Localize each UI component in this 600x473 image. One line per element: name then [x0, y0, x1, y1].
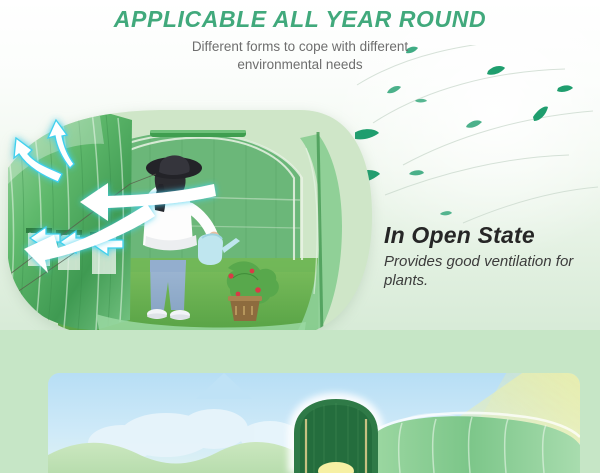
top-panel: APPLICABLE ALL YEAR ROUND Different form…: [0, 0, 600, 340]
card-notch: [196, 373, 252, 399]
page-subtitle: Different forms to cope with different e…: [150, 38, 450, 74]
greenhouse-open-photo: [0, 108, 378, 340]
greenhouse-closed-illustration: [48, 373, 580, 473]
product-infographic: APPLICABLE ALL YEAR ROUND Different form…: [0, 0, 600, 473]
open-state-title: In Open State: [384, 222, 535, 249]
page-title: APPLICABLE ALL YEAR ROUND: [0, 6, 600, 33]
open-state-description: Provides good ventilation for plants.: [384, 252, 589, 290]
bottom-band: [0, 330, 600, 473]
floating-leaves-decoration: [355, 45, 600, 240]
